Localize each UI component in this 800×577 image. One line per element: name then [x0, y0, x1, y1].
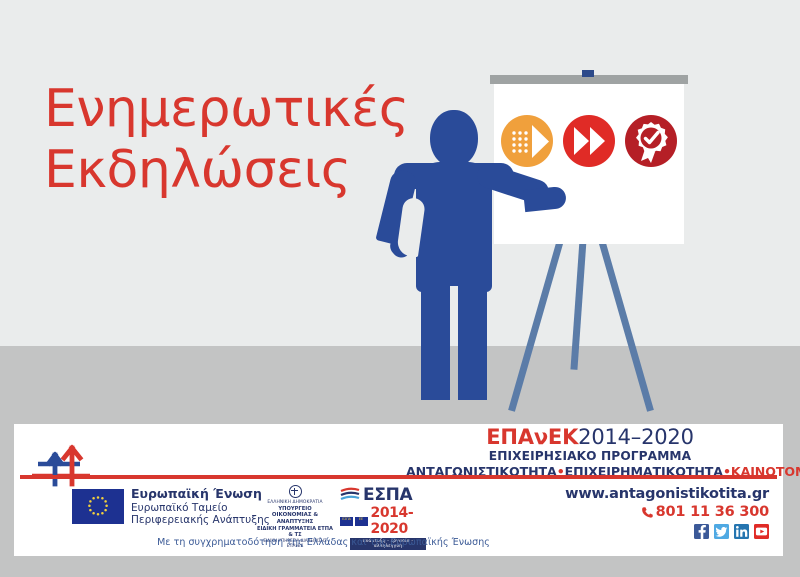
espa-top-row: ΕΣΠΑ: [340, 487, 426, 504]
hellenic-crest-icon: [289, 485, 302, 498]
title-line-1: Ενημερωτικές: [44, 83, 384, 136]
phone-row[interactable]: 801 11 36 300: [565, 504, 769, 520]
espa-swoosh-icon: [340, 487, 360, 504]
eu-line-1: Ευρωπαϊκή Ένωση: [131, 487, 270, 502]
eu-flag-icon: [72, 489, 124, 524]
cofinancing-tagline: Με τη συγχρηματοδότηση της Ελλάδας και τ…: [14, 537, 783, 548]
programme-header: ΕΠΑνΕΚ2014–2020 ΕΠΙΧΕΙΡΗΣΙΑΚΟ ΠΡΟΓΡΑΜΜΑ …: [406, 427, 774, 479]
board-knob-icon: [582, 70, 594, 77]
eu-logo-block: Ευρωπαϊκή Ένωση Ευρωπαϊκό Ταμείο Περιφερ…: [72, 487, 270, 527]
presenter-figure: [376, 110, 566, 400]
easel-leg-right: [596, 232, 654, 412]
programme-title-row: ΕΠΑνΕΚ2014–2020: [406, 427, 774, 448]
espa-bottom-row: ΕΣΠΑ ΕΕ 2014-2020: [340, 505, 426, 537]
figure-head: [430, 110, 478, 167]
website-link[interactable]: www.antagonistikotita.gr: [565, 486, 769, 502]
programme-name: ΕΠΑνΕΚ: [486, 425, 578, 449]
figure-leg-gap-lower: [450, 346, 458, 400]
hellenic-line-1: ΕΛΛΗΝΙΚΗ ΔΗΜΟΚΡΑΤΙΑ: [256, 500, 334, 506]
poster-title: Ενημερωτικές Εκδηλώσεις: [44, 83, 384, 197]
eu-line-2: Ευρωπαϊκό Ταμείο: [131, 502, 270, 514]
programme-years: 2014–2020: [578, 425, 694, 449]
phone-icon: [641, 506, 654, 519]
banner-divider: [20, 475, 777, 479]
espa-mini-flag-1: ΕΣΠΑ: [340, 517, 353, 526]
espa-banner: ΕΠΑνΕΚ2014–2020 ΕΠΙΧΕΙΡΗΣΙΑΚΟ ΠΡΟΓΡΑΜΜΑ …: [14, 424, 783, 556]
poster-canvas: Ενημερωτικές Εκδηλώσεις: [0, 0, 800, 577]
espa-mini-flag-2: ΕΕ: [355, 517, 368, 526]
title-line-2: Εκδηλώσεις: [44, 144, 384, 197]
figure-leg-right: [458, 278, 487, 400]
espa-mini-flag-label-2: ΕΕ: [355, 518, 368, 521]
espa-years: 2014-2020: [371, 505, 427, 537]
contact-block: www.antagonistikotita.gr 801 11 36 300: [565, 486, 769, 539]
phone-number: 801 11 36 300: [656, 504, 769, 520]
easel-leg-center: [570, 233, 587, 370]
figure-leg-left: [421, 278, 450, 400]
eu-line-3: Περιφερειακής Ανάπτυξης: [131, 514, 270, 526]
espa-word: ΕΣΠΑ: [363, 487, 412, 503]
hellenic-line-3: ΟΙΚΟΝΟΜΙΑΣ & ΑΝΑΠΤΥΞΗΣ: [256, 512, 334, 526]
programme-subtitle: ΕΠΙΧΕΙΡΗΣΙΑΚΟ ΠΡΟΓΡΑΜΜΑ: [406, 449, 774, 463]
espa-mini-flag-label-1: ΕΣΠΑ: [340, 518, 353, 521]
espa-mini-flags: ΕΣΠΑ ΕΕ: [340, 517, 368, 526]
check-badge-icon: [625, 115, 677, 167]
figure-hand-right: [523, 186, 567, 212]
fast-forward-icon: [563, 115, 615, 167]
eu-text-block: Ευρωπαϊκή Ένωση Ευρωπαϊκό Ταμείο Περιφερ…: [131, 487, 270, 527]
epanek-logo-icon: [28, 432, 94, 490]
